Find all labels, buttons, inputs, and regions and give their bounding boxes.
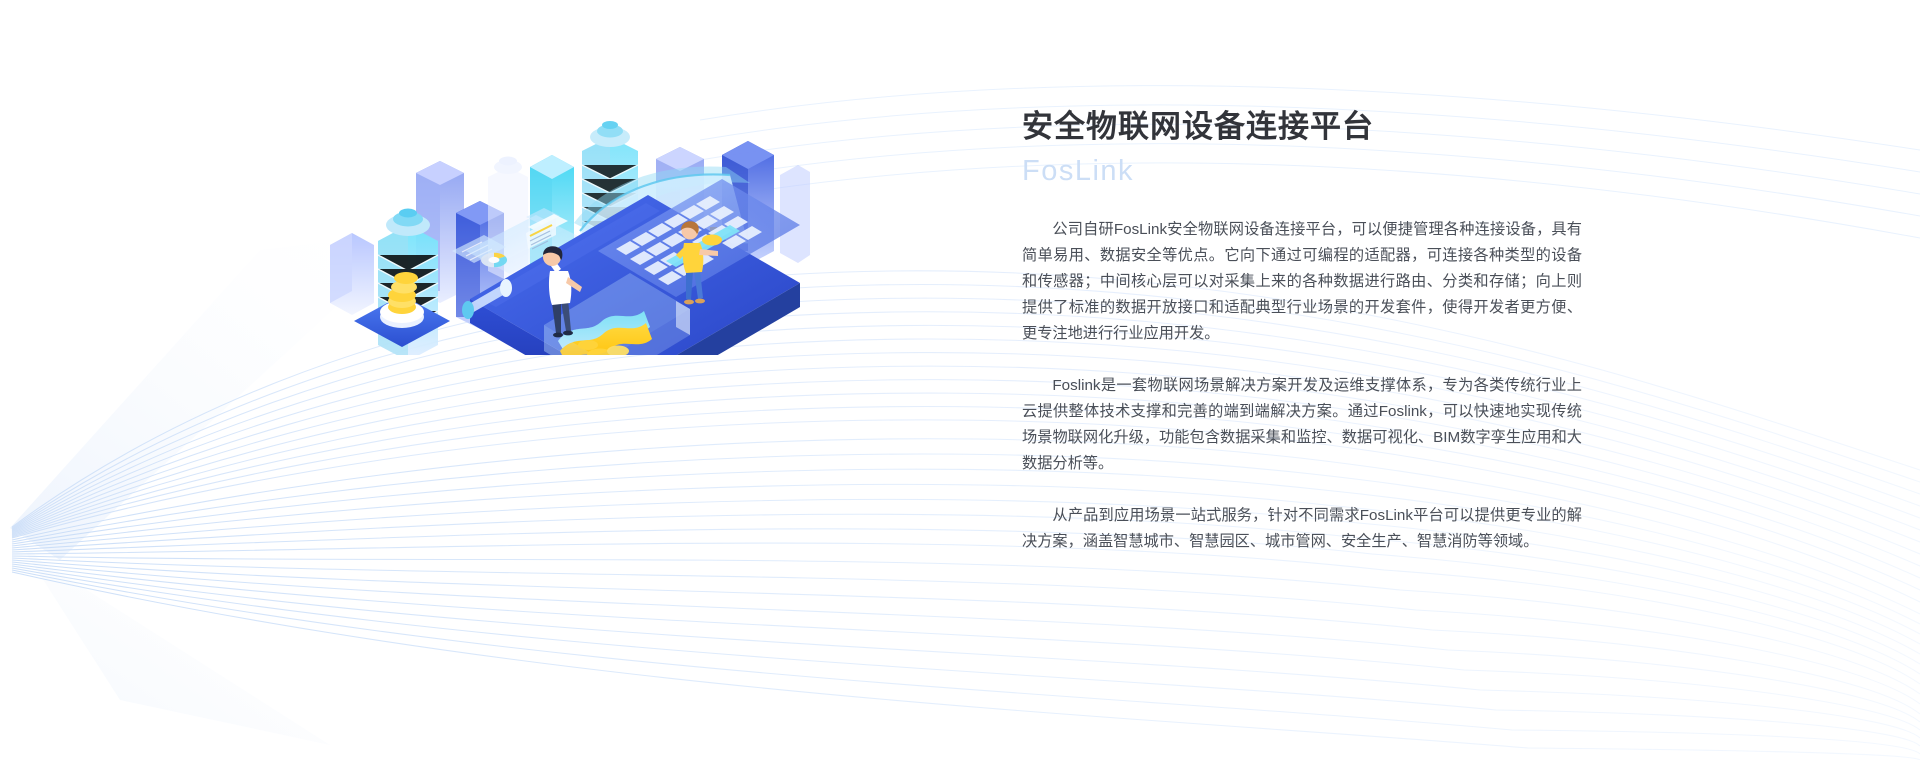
page-title: 安全物联网设备连接平台 [1022, 108, 1582, 147]
description-paragraph: 公司自研FosLink安全物联网设备连接平台，可以便捷管理各种连接设备，具有简单… [1022, 217, 1582, 347]
background-wave-decoration [0, 0, 1920, 760]
content-column: 安全物联网设备连接平台 FosLink 公司自研FosLink安全物联网设备连接… [1022, 108, 1582, 555]
iot-platform-illustration [330, 55, 810, 355]
page-subtitle: FosLink [1022, 153, 1582, 189]
description-paragraph: Foslink是一套物联网场景解决方案开发及运维支撑体系，专为各类传统行业上云提… [1022, 373, 1582, 477]
description-paragraph: 从产品到应用场景一站式服务，针对不同需求FosLink平台可以提供更专业的解决方… [1022, 503, 1582, 555]
page-root: 安全物联网设备连接平台 FosLink 公司自研FosLink安全物联网设备连接… [0, 0, 1920, 760]
